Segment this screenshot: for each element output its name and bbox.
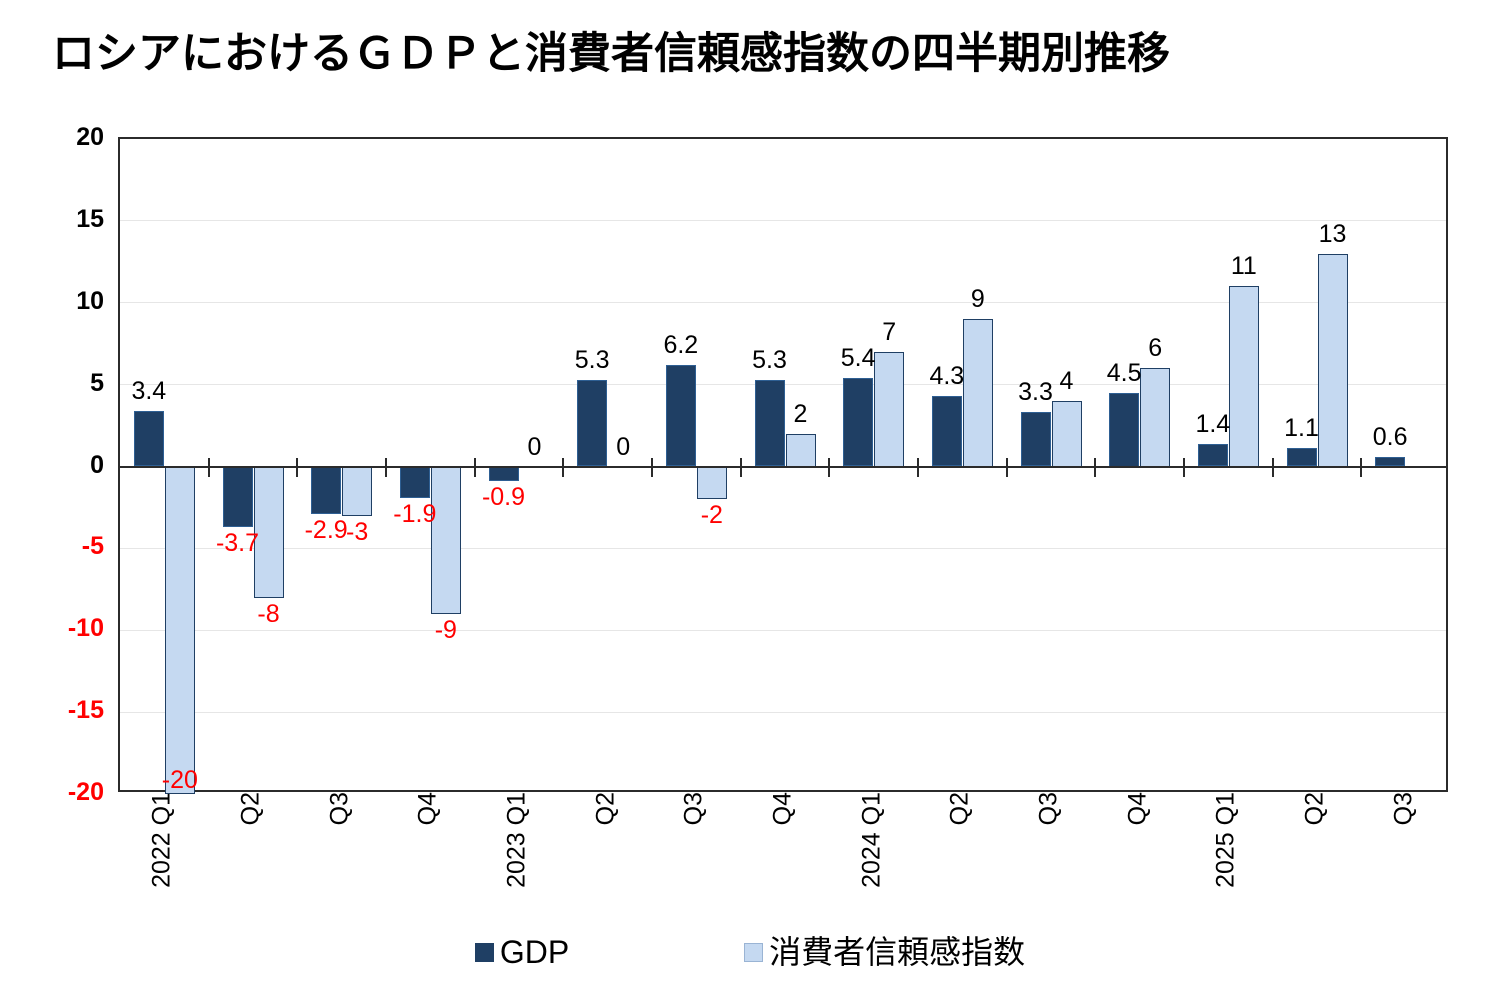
bar-gdp[interactable] bbox=[134, 411, 164, 467]
chart-legend: GDP 消費者信頼感指数 bbox=[0, 936, 1500, 968]
y-axis-tick-label: -15 bbox=[4, 698, 104, 723]
data-label-consumer-confidence: -20 bbox=[130, 768, 230, 793]
legend-swatch-consumer-confidence-icon bbox=[744, 943, 763, 962]
data-label-gdp: 5.3 bbox=[720, 348, 820, 373]
x-axis-tick bbox=[208, 458, 210, 477]
bar-gdp[interactable] bbox=[1198, 444, 1228, 467]
x-axis-tick-label: Q3 bbox=[682, 792, 707, 825]
x-axis-tick bbox=[1360, 458, 1362, 477]
gridline bbox=[120, 712, 1446, 713]
x-axis-tick-label: Q4 bbox=[771, 792, 796, 825]
y-axis-tick-label: 5 bbox=[4, 371, 104, 396]
y-axis-tick-label: 15 bbox=[4, 207, 104, 232]
x-axis-tick bbox=[1094, 458, 1096, 477]
x-axis-tick-group: Q3 bbox=[674, 792, 714, 912]
legend-label-gdp: GDP bbox=[500, 936, 569, 968]
x-axis-tick bbox=[651, 458, 653, 477]
x-axis-tick-group: 2025 Q1 bbox=[1206, 792, 1246, 912]
x-axis-tick bbox=[828, 458, 830, 477]
data-label-consumer-confidence: -8 bbox=[219, 602, 319, 627]
data-label-consumer-confidence: 7 bbox=[839, 320, 939, 345]
x-axis-tick-group: Q4 bbox=[408, 792, 448, 912]
x-axis-tick-label: Q4 bbox=[1125, 792, 1150, 825]
x-axis-tick-label: Q4 bbox=[416, 792, 441, 825]
bar-consumer-confidence[interactable] bbox=[786, 434, 816, 467]
gridline bbox=[120, 548, 1446, 549]
x-axis-tick-label: Q3 bbox=[1037, 792, 1062, 825]
x-axis-tick-group: 2022 Q1 bbox=[142, 792, 182, 912]
data-label-consumer-confidence: 2 bbox=[751, 402, 851, 427]
gridline bbox=[120, 630, 1446, 631]
x-axis-tick-group: Q4 bbox=[763, 792, 803, 912]
data-label-gdp: 5.4 bbox=[808, 346, 908, 371]
x-axis-tick-label: Q2 bbox=[593, 792, 618, 825]
x-axis-tick-group: Q2 bbox=[231, 792, 271, 912]
x-axis-tick-label: 2024 Q1 bbox=[859, 792, 884, 888]
x-axis-tick-group: Q3 bbox=[1029, 792, 1069, 912]
bar-gdp[interactable] bbox=[223, 467, 253, 528]
data-label-gdp: 5.3 bbox=[542, 348, 642, 373]
bar-gdp[interactable] bbox=[1287, 448, 1317, 466]
x-axis-tick-group: Q3 bbox=[320, 792, 360, 912]
x-axis-tick-label: 2023 Q1 bbox=[505, 792, 530, 888]
data-label-consumer-confidence: 9 bbox=[928, 287, 1028, 312]
x-axis-tick-label: Q2 bbox=[239, 792, 264, 825]
gridline bbox=[120, 220, 1446, 221]
data-label-gdp: 4.5 bbox=[1074, 361, 1174, 386]
data-label-gdp: 4.3 bbox=[897, 364, 997, 389]
x-axis-tick-label: Q2 bbox=[948, 792, 973, 825]
zero-axis-line bbox=[120, 466, 1446, 468]
data-label-gdp: 1.1 bbox=[1252, 416, 1352, 441]
data-label-gdp: -1.9 bbox=[365, 502, 465, 527]
y-axis-tick-label: 0 bbox=[4, 453, 104, 478]
chart-container: ロシアにおけるＧＤＰと消費者信頼感指数の四半期別推移 20151050-5-10… bbox=[0, 0, 1500, 1000]
bar-consumer-confidence[interactable] bbox=[1052, 401, 1082, 467]
data-label-gdp: 1.4 bbox=[1163, 412, 1263, 437]
x-axis-tick-group: 2023 Q1 bbox=[497, 792, 537, 912]
data-label-consumer-confidence: 0 bbox=[573, 435, 673, 460]
bar-gdp[interactable] bbox=[311, 467, 341, 514]
x-axis-tick-label: Q3 bbox=[327, 792, 352, 825]
data-label-gdp: -3.7 bbox=[188, 531, 288, 556]
legend-label-consumer-confidence: 消費者信頼感指数 bbox=[769, 936, 1025, 968]
x-axis-tick-group: Q2 bbox=[586, 792, 626, 912]
x-axis-tick-label: 2022 Q1 bbox=[150, 792, 175, 888]
data-label-consumer-confidence: 6 bbox=[1105, 336, 1205, 361]
x-axis-tick bbox=[1272, 458, 1274, 477]
x-axis-tick-group: Q2 bbox=[1295, 792, 1335, 912]
x-axis-tick bbox=[1183, 458, 1185, 477]
x-axis-tick-label: Q2 bbox=[1303, 792, 1328, 825]
bar-consumer-confidence[interactable] bbox=[697, 467, 727, 500]
y-axis-tick-label: 20 bbox=[4, 125, 104, 150]
x-axis-tick-group: Q3 bbox=[1384, 792, 1424, 912]
x-axis-tick bbox=[474, 458, 476, 477]
legend-item-gdp[interactable]: GDP bbox=[475, 936, 569, 968]
bar-gdp[interactable] bbox=[932, 396, 962, 466]
data-label-consumer-confidence: 11 bbox=[1194, 254, 1294, 279]
legend-item-consumer-confidence[interactable]: 消費者信頼感指数 bbox=[744, 936, 1025, 968]
x-axis-tick bbox=[917, 458, 919, 477]
y-axis-tick-label: -20 bbox=[4, 780, 104, 805]
x-axis-tick-group: Q2 bbox=[940, 792, 980, 912]
x-axis-tick-group: Q4 bbox=[1118, 792, 1158, 912]
data-label-gdp: -0.9 bbox=[454, 485, 554, 510]
bar-gdp[interactable] bbox=[1021, 412, 1051, 466]
x-axis-tick-group: 2024 Q1 bbox=[852, 792, 892, 912]
data-label-consumer-confidence: -2 bbox=[662, 503, 762, 528]
data-label-gdp: 6.2 bbox=[631, 333, 731, 358]
x-axis-tick-label: Q3 bbox=[1391, 792, 1416, 825]
x-axis-tick bbox=[562, 458, 564, 477]
data-label-gdp: 3.4 bbox=[99, 379, 199, 404]
bar-gdp[interactable] bbox=[400, 467, 430, 498]
data-label-consumer-confidence: -9 bbox=[396, 618, 496, 643]
x-axis-tick bbox=[385, 458, 387, 477]
page-title: ロシアにおけるＧＤＰと消費者信頼感指数の四半期別推移 bbox=[52, 33, 1472, 76]
legend-swatch-gdp-icon bbox=[475, 943, 494, 962]
data-label-consumer-confidence: 13 bbox=[1283, 222, 1383, 247]
y-axis-tick-label: 10 bbox=[4, 289, 104, 314]
bar-gdp[interactable] bbox=[1109, 393, 1139, 467]
plot-inner: 3.4-20-3.7-8-2.9-3-1.9-9-0.905.306.2-25.… bbox=[120, 139, 1446, 790]
y-axis: 20151050-5-10-15-20 bbox=[0, 137, 104, 792]
x-axis-tick bbox=[740, 458, 742, 477]
plot-area: 3.4-20-3.7-8-2.9-3-1.9-9-0.905.306.2-25.… bbox=[118, 137, 1448, 792]
x-axis-tick bbox=[1006, 458, 1008, 477]
y-axis-tick-label: -10 bbox=[4, 616, 104, 641]
y-axis-tick-label: -5 bbox=[4, 534, 104, 559]
x-axis-tick bbox=[296, 458, 298, 477]
bar-consumer-confidence[interactable] bbox=[165, 467, 195, 795]
data-label-gdp: 0.6 bbox=[1340, 425, 1440, 450]
bar-gdp[interactable] bbox=[489, 467, 519, 482]
data-label-consumer-confidence: 0 bbox=[485, 435, 585, 460]
x-axis: 2022 Q1Q2Q3Q42023 Q1Q2Q3Q42024 Q1Q2Q3Q42… bbox=[118, 792, 1448, 917]
x-axis-tick-label: 2025 Q1 bbox=[1214, 792, 1239, 888]
